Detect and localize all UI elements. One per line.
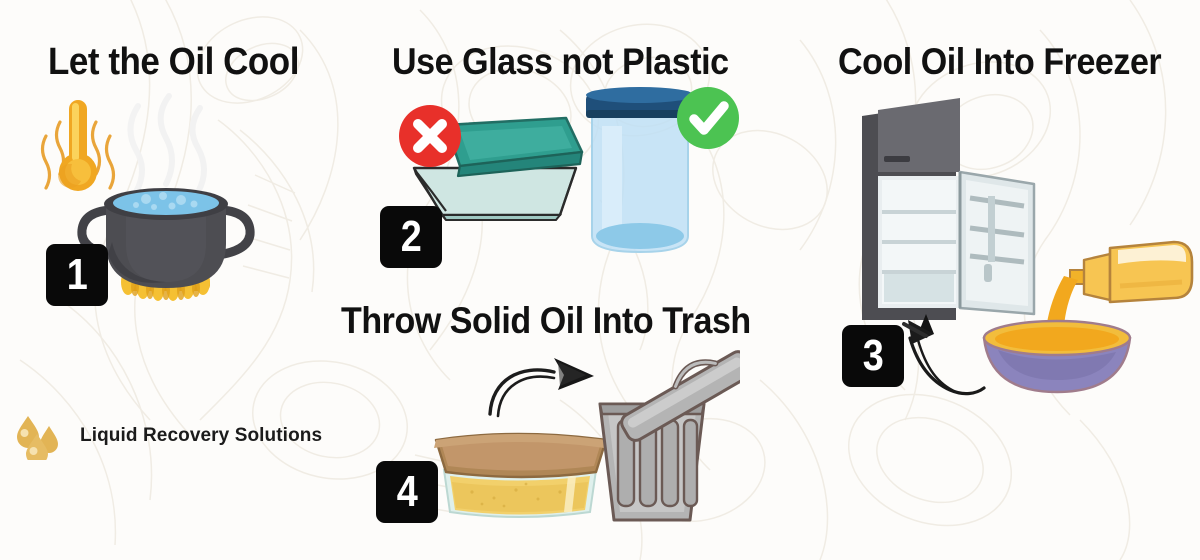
- solid-oil-container-icon: [434, 434, 606, 517]
- step-1-title: Let the Oil Cool: [48, 43, 299, 81]
- step-3-number: 3: [862, 334, 883, 378]
- oil-droplets-icon: [12, 412, 68, 460]
- step-2-title: Use Glass not Plastic: [392, 43, 729, 80]
- infographic-canvas: Let the Oil Cool: [0, 0, 1200, 560]
- step-3-title: Cool Oil Into Freezer: [838, 43, 1161, 80]
- trash-can-icon: [600, 342, 740, 520]
- power-plug-icon: [904, 314, 984, 394]
- green-check-badge-icon: [677, 87, 739, 149]
- step-4-title: Throw Solid Oil Into Trash: [341, 302, 751, 339]
- curved-arrow-icon: [490, 358, 594, 416]
- refrigerator-icon: [862, 98, 1034, 320]
- bowl-icon: [984, 321, 1130, 392]
- step-2-number: 2: [400, 215, 421, 259]
- brand-lockup: Liquid Recovery Solutions: [12, 412, 322, 460]
- red-x-badge-icon: [399, 105, 461, 167]
- thermometer-icon: [58, 100, 97, 191]
- step-3-badge: 3: [842, 325, 904, 387]
- oil-bottle-icon: [1070, 242, 1192, 302]
- step-1-number: 1: [66, 253, 87, 297]
- step-2-badge: 2: [380, 206, 442, 268]
- step-4-number: 4: [396, 470, 417, 514]
- step-1-badge: 1: [46, 244, 108, 306]
- step-4-badge: 4: [376, 461, 438, 523]
- brand-name: Liquid Recovery Solutions: [80, 425, 322, 447]
